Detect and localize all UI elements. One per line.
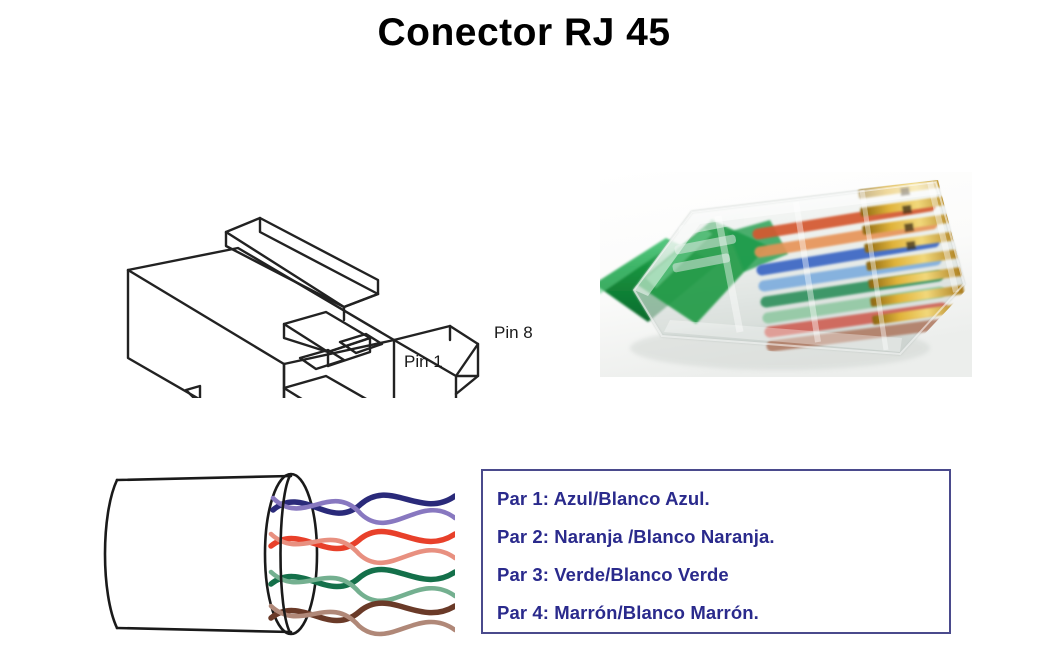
rj45-connector-illustration (78, 108, 588, 398)
legend-line-pair-3: Par 3: Verde/Blanco Verde (497, 556, 949, 594)
rj45-plug-photo-illustration (600, 172, 972, 377)
utp-cable-illustration (95, 462, 455, 647)
legend-line-pair-1: Par 1: Azul/Blanco Azul. (497, 480, 949, 518)
rj45-connector-photo (600, 172, 972, 377)
pin-8-label: Pin 8 (494, 323, 533, 343)
wire-pairs-legend: Par 1: Azul/Blanco Azul. Par 2: Naranja … (481, 469, 951, 634)
utp-cable-diagram (95, 462, 455, 647)
page-title: Conector RJ 45 (0, 10, 1048, 56)
pin-1-label: Pin 1 (404, 352, 443, 372)
rj45-connector-diagram (78, 108, 588, 398)
legend-line-pair-2: Par 2: Naranja /Blanco Naranja. (497, 518, 949, 556)
legend-line-pair-4: Par 4: Marrón/Blanco Marrón. (497, 594, 949, 632)
